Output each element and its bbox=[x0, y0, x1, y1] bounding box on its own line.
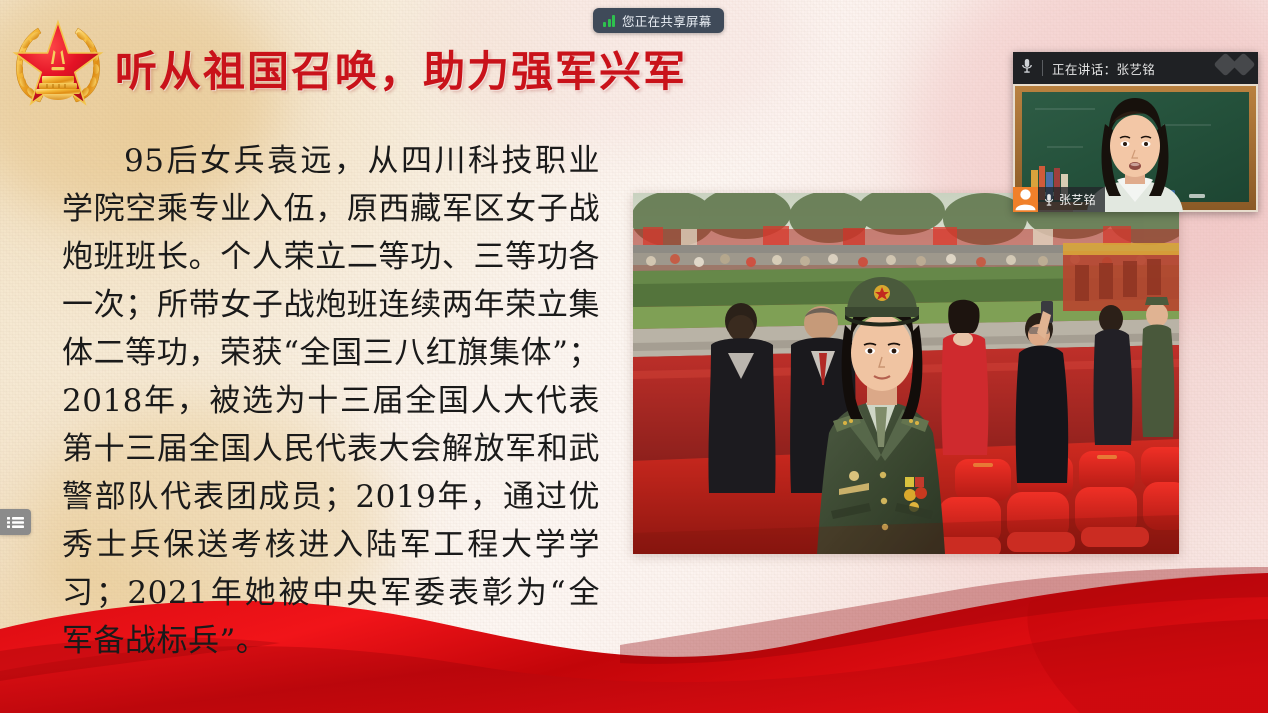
microphone-icon bbox=[1044, 193, 1054, 207]
diamond-marks-icon bbox=[1217, 56, 1252, 73]
microphone-icon bbox=[1021, 58, 1033, 79]
active-speaker-label: 正在讲话：张艺铭 bbox=[1052, 59, 1155, 78]
participant-name-label: 张艺铭 bbox=[1059, 191, 1096, 208]
pla-military-emblem-icon bbox=[8, 14, 108, 110]
list-menu-icon[interactable] bbox=[0, 509, 31, 535]
video-panel-header: 正在讲话：张艺铭 bbox=[1013, 52, 1258, 84]
person-icon bbox=[1013, 187, 1038, 212]
presentation-slide: 听从祖国召唤，助力强军兴军 95后女兵袁远，从四川科技职业学院空乘专业入伍，原西… bbox=[0, 0, 1268, 713]
slide-title: 听从祖国召唤，助力强军兴军 bbox=[115, 38, 687, 99]
video-feed[interactable]: 张艺铭 bbox=[1013, 84, 1258, 212]
participant-nametag: 张艺铭 bbox=[1013, 187, 1105, 212]
signal-bars-icon bbox=[603, 15, 615, 27]
ceremony-photo bbox=[633, 193, 1179, 554]
screen-share-banner: 您正在共享屏幕 bbox=[593, 8, 724, 33]
screen-share-label: 您正在共享屏幕 bbox=[622, 11, 712, 30]
slide-body-text: 95后女兵袁远，从四川科技职业学院空乘专业入伍，原西藏军区女子战炮班班长。个人荣… bbox=[62, 137, 600, 665]
video-participant-panel[interactable]: 正在讲话：张艺铭 bbox=[1013, 52, 1258, 212]
header-divider bbox=[1042, 60, 1043, 76]
